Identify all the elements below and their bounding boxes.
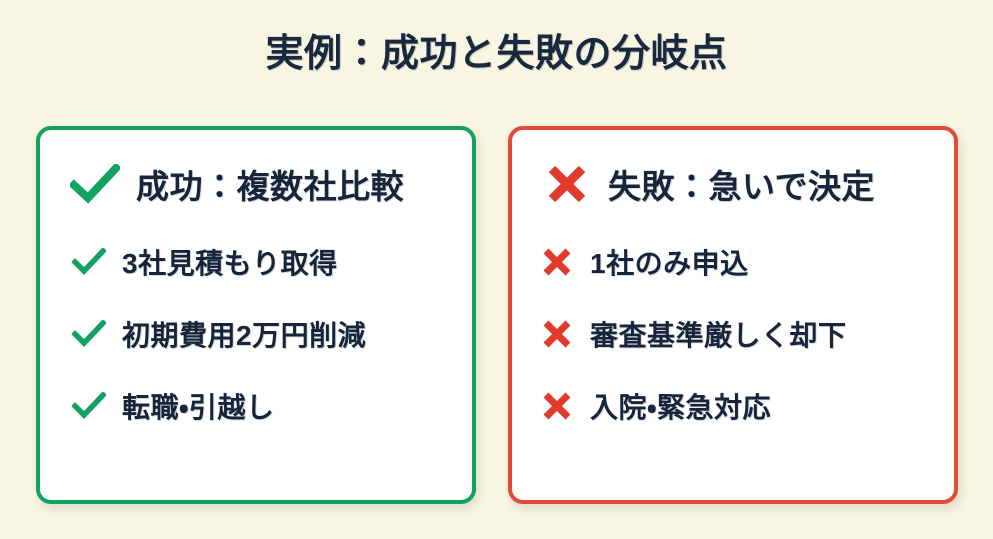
success-card-title: 成功：複数社比較 <box>136 160 404 208</box>
list-item: 審査基準厳しく却下 <box>512 314 954 354</box>
success-list: 3社見積もり取得 初期費用2万円削減 転職・引越し <box>40 242 472 426</box>
list-item: 入院・緊急対応 <box>512 386 954 426</box>
success-card: 成功：複数社比較 3社見積もり取得 初期費用2万円削減 <box>36 126 476 504</box>
check-icon <box>70 159 120 209</box>
failure-card-title: 失敗：急いで決定 <box>608 160 875 208</box>
cross-icon <box>540 245 574 279</box>
list-item-label: 初期費用2万円削減 <box>122 314 366 354</box>
list-item: 初期費用2万円削減 <box>40 314 472 354</box>
failure-card: 失敗：急いで決定 1社のみ申込 審査基準厳しく却下 <box>508 126 958 504</box>
success-card-header: 成功：複数社比較 <box>40 156 472 212</box>
check-icon <box>72 245 106 279</box>
list-item-label: 1社のみ申込 <box>590 242 749 282</box>
list-item: 3社見積もり取得 <box>40 242 472 282</box>
list-item-label: 入院・緊急対応 <box>590 386 771 426</box>
failure-card-header: 失敗：急いで決定 <box>512 156 954 212</box>
list-item-label: 転職・引越し <box>122 386 275 426</box>
list-item: 転職・引越し <box>40 386 472 426</box>
list-item-label: 審査基準厳しく却下 <box>590 314 847 354</box>
comparison-cards: 成功：複数社比較 3社見積もり取得 初期費用2万円削減 <box>0 126 993 506</box>
cross-icon <box>540 389 574 423</box>
list-item: 1社のみ申込 <box>512 242 954 282</box>
list-item-label: 3社見積もり取得 <box>122 242 338 282</box>
cross-icon <box>540 317 574 351</box>
check-icon <box>72 317 106 351</box>
check-icon <box>72 389 106 423</box>
cross-icon <box>542 159 592 209</box>
failure-list: 1社のみ申込 審査基準厳しく却下 入院・緊急対応 <box>512 242 954 426</box>
page-title: 実例：成功と失敗の分岐点 <box>0 22 993 77</box>
